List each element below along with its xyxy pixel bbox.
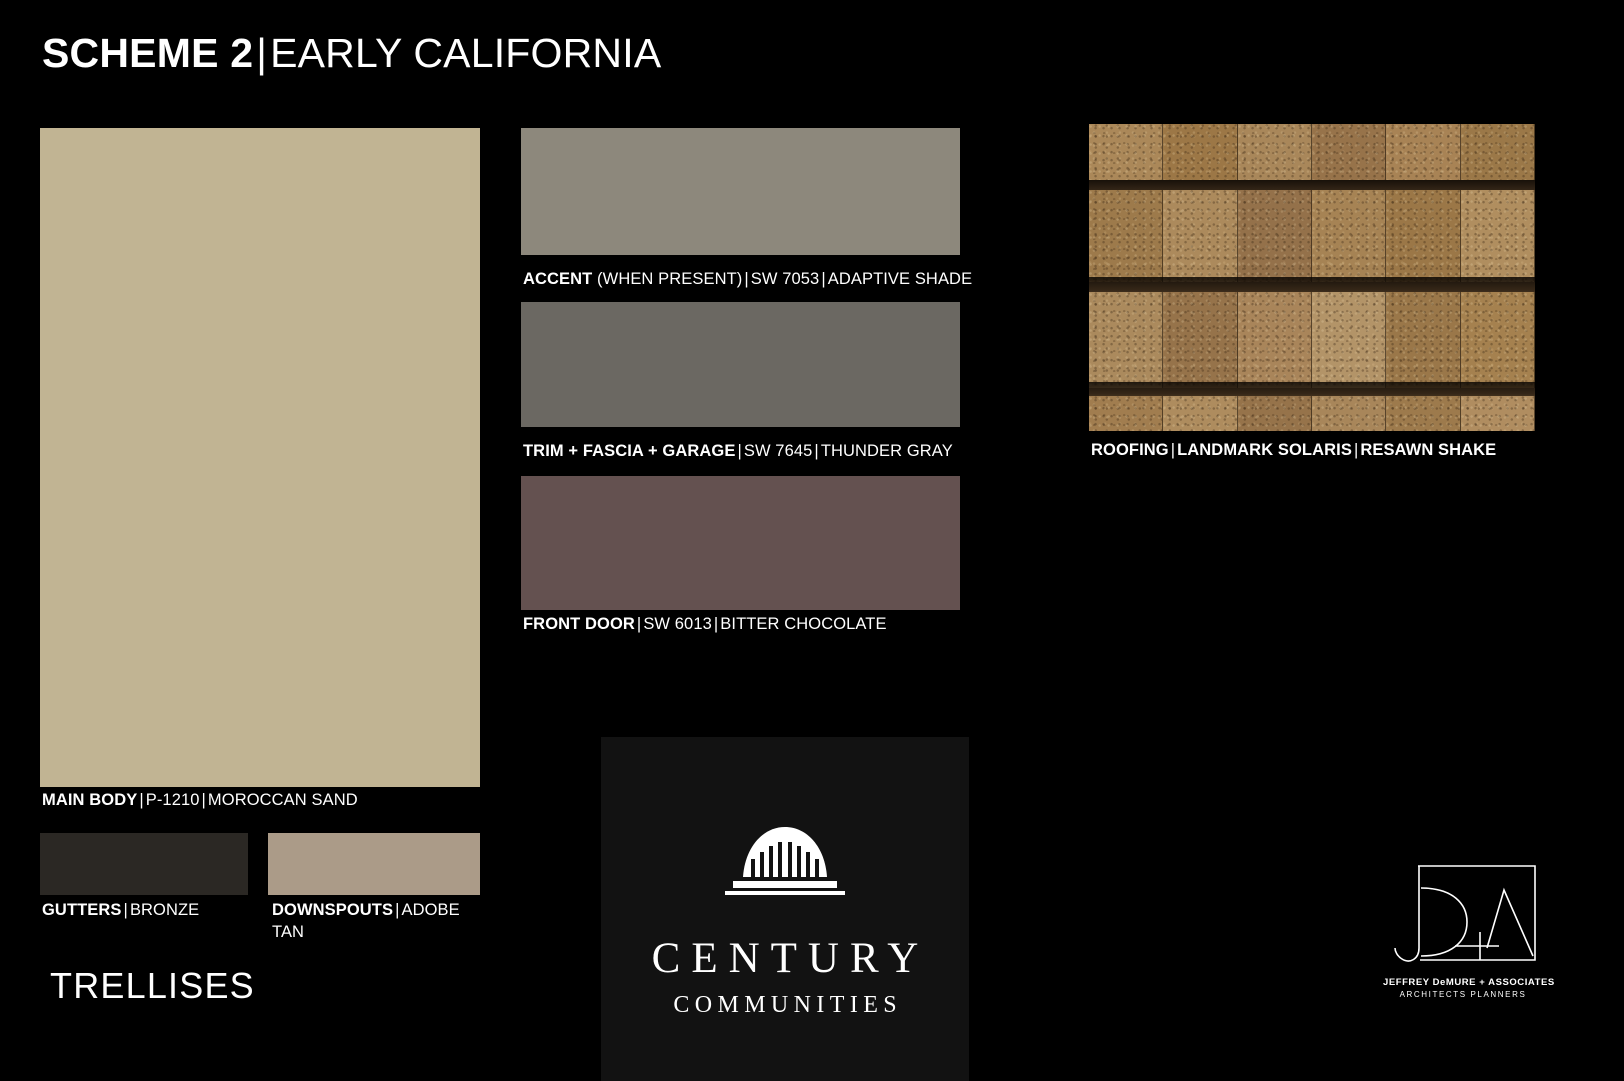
label-roofing-color: RESAWN SHAKE <box>1360 441 1496 459</box>
jda-monogram-icon <box>1383 860 1543 970</box>
label-gutters-role: GUTTERS <box>42 901 122 919</box>
jda-logo: JEFFREY DeMURE + ASSOCIATES ARCHITECTS P… <box>1383 860 1543 1010</box>
jda-firm-name: JEFFREY DeMURE + ASSOCIATES <box>1383 978 1543 988</box>
label-main-body-color: MOROCCAN SAND <box>208 791 358 809</box>
title-separator: | <box>253 30 270 76</box>
page-title: SCHEME 2|EARLY CALIFORNIA <box>42 33 661 74</box>
label-main-body: MAIN BODY|P-1210|MOROCCAN SAND <box>42 789 512 811</box>
label-front-door-role: FRONT DOOR <box>523 615 635 633</box>
century-building-icon <box>721 825 849 897</box>
swatch-main-body <box>40 128 480 787</box>
label-front-door: FRONT DOOR|SW 6013|BITTER CHOCOLATE <box>523 613 1083 635</box>
label-roofing-product: LANDMARK SOLARIS <box>1177 441 1352 459</box>
label-accent-qualifier: (WHEN PRESENT) <box>597 270 742 288</box>
label-main-body-role: MAIN BODY <box>42 791 137 809</box>
label-front-door-color: BITTER CHOCOLATE <box>720 615 886 633</box>
label-roofing-role: ROOFING <box>1091 441 1169 459</box>
title-name: EARLY CALIFORNIA <box>270 30 661 76</box>
swatch-trim-fascia-garage <box>521 302 960 427</box>
section-heading-trellises: TRELLISES <box>50 968 255 1004</box>
century-wordmark: CENTURY <box>641 937 930 980</box>
century-subtitle: COMMUNITIES <box>668 993 902 1017</box>
label-accent-code: SW 7053 <box>751 270 820 288</box>
label-downspouts-role: DOWNSPOUTS <box>272 901 393 919</box>
label-roofing-pipe-1: | <box>1169 441 1177 459</box>
swatch-gutters <box>40 833 248 895</box>
label-accent-pipe-2: | <box>819 270 827 288</box>
swatch-downspouts <box>268 833 480 895</box>
label-accent-color: ADAPTIVE SHADE <box>828 270 972 288</box>
label-gutters-pipe: | <box>122 901 130 919</box>
color-scheme-board: SCHEME 2|EARLY CALIFORNIA MAIN BODY|P-12… <box>0 0 1624 1081</box>
swatch-roofing-photo <box>1089 124 1535 431</box>
label-downspouts: DOWNSPOUTS|ADOBE TAN <box>272 899 477 943</box>
label-trim-role: TRIM + FASCIA + GARAGE <box>523 442 735 460</box>
label-gutters-color: BRONZE <box>130 901 199 919</box>
century-communities-logo: CENTURY COMMUNITIES <box>601 737 969 1081</box>
label-roofing: ROOFING|LANDMARK SOLARIS|RESAWN SHAKE <box>1091 439 1611 461</box>
label-trim-fascia-garage: TRIM + FASCIA + GARAGE|SW 7645|THUNDER G… <box>523 440 1083 462</box>
swatch-front-door <box>521 476 960 610</box>
label-main-body-code: P-1210 <box>146 791 200 809</box>
label-accent: ACCENT (WHEN PRESENT)|SW 7053|ADAPTIVE S… <box>523 268 1083 290</box>
label-main-body-pipe-1: | <box>137 791 145 809</box>
label-main-body-pipe-2: | <box>200 791 208 809</box>
swatch-accent <box>521 128 960 255</box>
label-front-door-code: SW 6013 <box>643 615 712 633</box>
title-scheme: SCHEME 2 <box>42 30 253 76</box>
label-accent-pipe-1: | <box>742 270 750 288</box>
label-trim-pipe-1: | <box>735 442 743 460</box>
label-trim-color: THUNDER GRAY <box>821 442 953 460</box>
label-trim-pipe-2: | <box>812 442 820 460</box>
label-trim-code: SW 7645 <box>744 442 813 460</box>
jda-firm-discipline: ARCHITECTS PLANNERS <box>1383 991 1543 999</box>
label-gutters: GUTTERS|BRONZE <box>42 899 272 921</box>
label-accent-role: ACCENT <box>523 270 592 288</box>
